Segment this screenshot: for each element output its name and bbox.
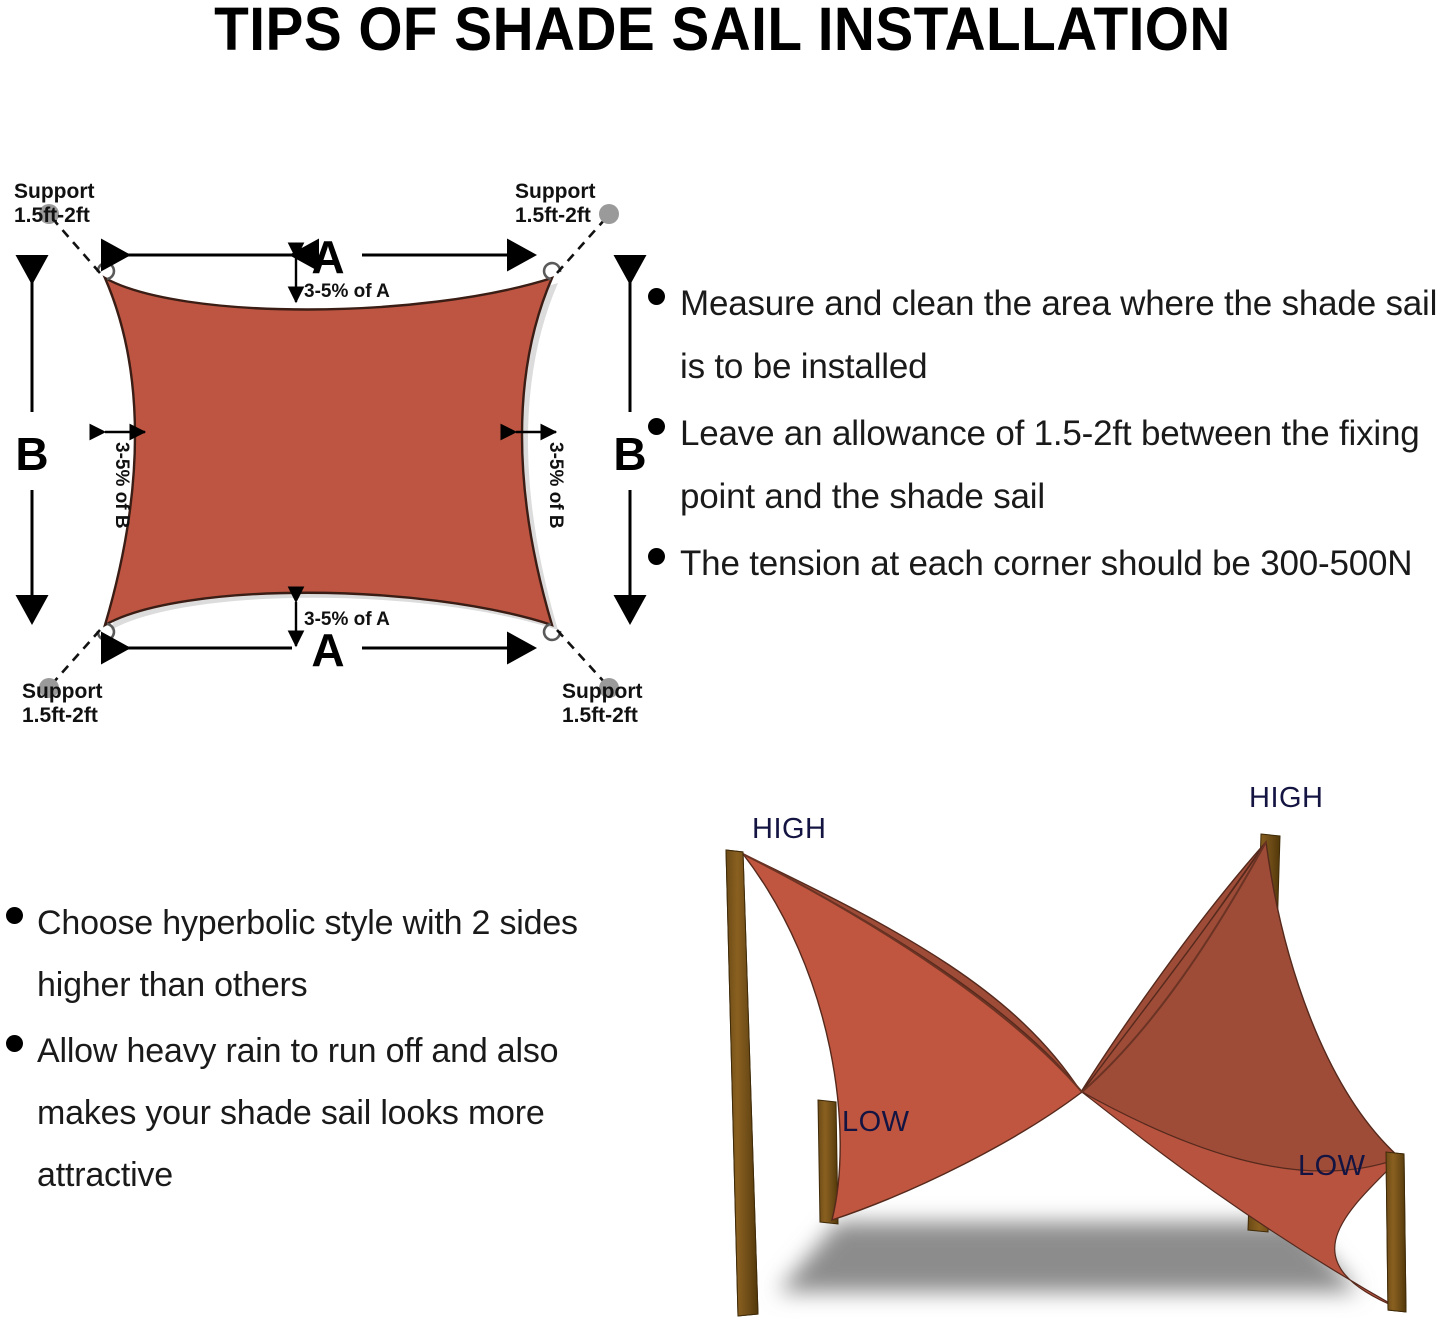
- curve-note-top: 3-5% of A: [304, 281, 390, 302]
- sail-body: [105, 278, 552, 625]
- bullet-icon: [648, 418, 665, 435]
- support-label-bottom-left-line2: 1.5ft-2ft: [22, 704, 98, 727]
- installation-tips-list: Measure and clean the area where the sha…: [648, 272, 1445, 599]
- list-item: Allow heavy rain to run off and also mak…: [6, 1020, 636, 1206]
- grommet-top-left: [98, 263, 114, 279]
- bullet-icon: [6, 907, 23, 924]
- scene-label-low-left: LOW: [842, 1106, 910, 1139]
- post-high-left-front: [726, 850, 758, 1316]
- tether-bottom-left: [52, 630, 100, 684]
- dim-label-B-left: B: [15, 428, 48, 480]
- rect-sail-svg: Support 1.5ft-2ft Support 1.5ft-2ft Supp…: [0, 160, 660, 730]
- bullet-icon: [648, 548, 665, 565]
- support-label-top-left-line1: Support: [14, 180, 94, 203]
- post-low-right-front: [1386, 1152, 1406, 1312]
- support-label-top-right-line2: 1.5ft-2ft: [515, 204, 591, 227]
- bullet-icon: [648, 288, 665, 305]
- dim-label-A-top: A: [311, 231, 344, 283]
- rectangular-sail-diagram: Support 1.5ft-2ft Support 1.5ft-2ft Supp…: [0, 160, 660, 730]
- support-label-top-left-line2: 1.5ft-2ft: [14, 204, 90, 227]
- support-label-bottom-left-line1: Support: [22, 680, 102, 703]
- tether-bottom-right: [557, 630, 606, 684]
- scene-label-high-right: HIGH: [1249, 782, 1324, 815]
- dim-label-A-bottom: A: [311, 624, 344, 676]
- curve-note-bottom: 3-5% of A: [304, 609, 390, 630]
- curve-note-right: 3-5% of B: [545, 442, 566, 529]
- page-title: TIPS OF SHADE SAIL INSTALLATION: [51, 0, 1395, 64]
- tip-text-3: The tension at each corner should be 300…: [680, 532, 1412, 595]
- hyperbolic-tips-list: Choose hyperbolic style with 2 sides hig…: [6, 892, 636, 1210]
- list-item: Measure and clean the area where the sha…: [648, 272, 1445, 398]
- list-item: Choose hyperbolic style with 2 sides hig…: [6, 892, 636, 1016]
- scene-svg: [686, 792, 1445, 1319]
- dim-label-B-right: B: [613, 428, 646, 480]
- list-item: Leave an allowance of 1.5-2ft between th…: [648, 402, 1445, 528]
- scene-label-low-right: LOW: [1298, 1150, 1366, 1183]
- support-label-bottom-right-line1: Support: [562, 680, 642, 703]
- tip-text-2: Leave an allowance of 1.5-2ft between th…: [680, 402, 1445, 528]
- hyper-text-2: Allow heavy rain to run off and also mak…: [37, 1020, 636, 1206]
- list-item: The tension at each corner should be 300…: [648, 532, 1445, 595]
- support-label-top-right-line1: Support: [515, 180, 595, 203]
- bullet-icon: [6, 1035, 23, 1052]
- hyperbolic-sail-scene: HIGH HIGH LOW LOW: [686, 792, 1445, 1319]
- tip-text-1: Measure and clean the area where the sha…: [680, 272, 1445, 398]
- grommet-bottom-left: [98, 624, 114, 640]
- support-dot-top-right: [599, 204, 619, 224]
- scene-label-high-left: HIGH: [752, 813, 827, 846]
- hyper-text-1: Choose hyperbolic style with 2 sides hig…: [37, 892, 636, 1016]
- curve-note-left: 3-5% of B: [111, 442, 132, 529]
- support-label-bottom-right-line2: 1.5ft-2ft: [562, 704, 638, 727]
- ground-shadow: [778, 1222, 1358, 1292]
